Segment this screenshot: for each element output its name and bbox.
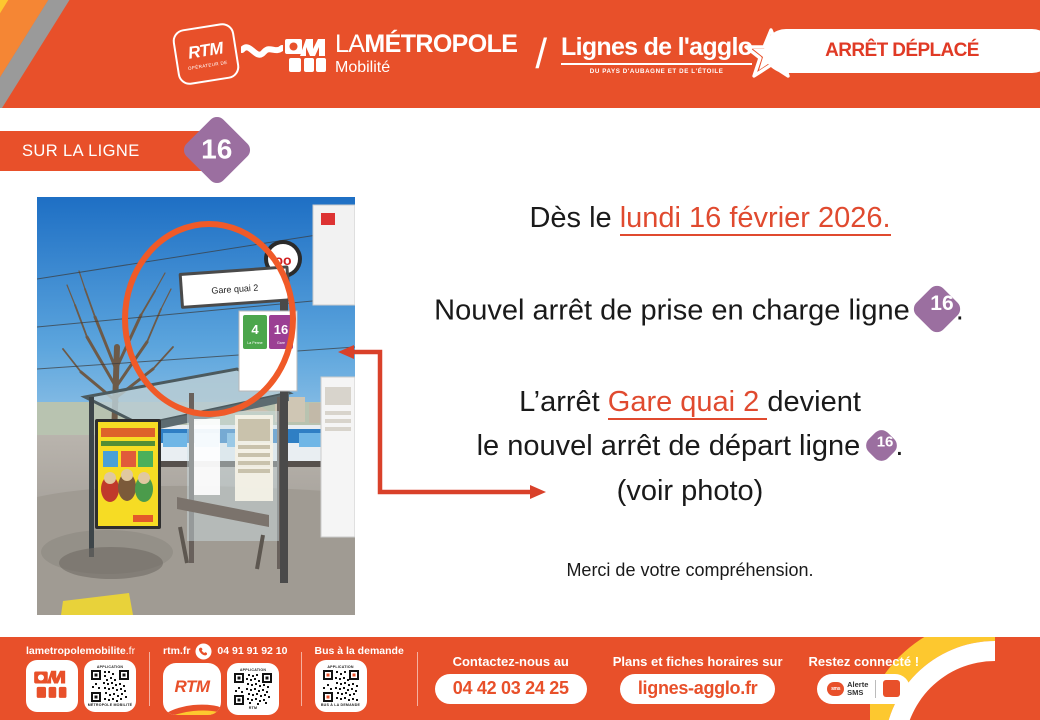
- footer-content: lametropolemobilite.fr: [0, 637, 932, 720]
- qr-rtm-bottom-label: RTM: [249, 706, 257, 710]
- qr-code-icon: [90, 669, 130, 703]
- alerte-sms-line2: SMS: [847, 689, 868, 697]
- phone-icon: [195, 643, 212, 660]
- inline-line-badge-pickup-label: 16: [923, 292, 961, 316]
- message-line-date: Dès le lundi 16 février 2026.: [380, 202, 1040, 235]
- qr-code-icon: [321, 669, 361, 703]
- svg-text:La Penne: La Penne: [247, 341, 262, 345]
- footer-contact-phone-pill[interactable]: 04 42 03 24 25: [435, 674, 587, 704]
- alerte-sms-label: Alerte SMS: [847, 681, 868, 697]
- facebook-label: f: [889, 678, 895, 699]
- agglo-name: Lignes de l'agglo: [561, 33, 752, 65]
- metropole-la: LA: [335, 30, 364, 58]
- lignes-agglo-logo: Lignes de l'agglo DU PAYS D'AUBAGNE ET D…: [561, 28, 798, 80]
- message-stop-highlight: Gare quai 2: [608, 386, 768, 420]
- footer-metropole-tld: .fr: [126, 645, 135, 657]
- footer-divider: [149, 652, 150, 706]
- message-pickup-prefix: Nouvel arrêt de prise en charge ligne: [434, 295, 918, 327]
- logo-separator-slash: /: [535, 33, 547, 75]
- alerte-sms-link[interactable]: sms Alerte SMS: [827, 681, 868, 697]
- message-see-photo: (voir photo): [380, 475, 1000, 508]
- footer-plans-site: lignes-agglo.fr: [638, 678, 758, 699]
- footer-plans-label: Plans et fiches horaires sur: [613, 654, 783, 669]
- footer-divider: [417, 652, 418, 706]
- status-badge: ARRÊT DÉPLACÉ: [764, 29, 1040, 73]
- line-banner-label: SUR LA LIGNE: [22, 142, 140, 161]
- footer-contact: Contactez-nous au 04 42 03 24 25: [422, 637, 600, 720]
- rtm-logo-word: RTM: [187, 38, 225, 63]
- footer-plans: Plans et fiches horaires sur lignes-aggl…: [600, 637, 796, 720]
- squiggle-connector-icon: [241, 34, 283, 74]
- footer-contact-label: Contactez-nous au: [453, 654, 569, 669]
- rtm-footer-logo[interactable]: RTM: [163, 663, 221, 715]
- footer-rtm-domain: rtm.fr: [163, 645, 190, 657]
- metropole-mobilite-wordmark: LAMÉTROPOLE Mobilité: [335, 32, 517, 76]
- qr-bus-bottom-label: BUS À LA DEMANDE: [321, 703, 360, 707]
- qr-metropole-bottom-label: MÉTROPOLE MOBILITÉ: [88, 703, 133, 707]
- poster-page: RTM OPÉRATEUR DE LAMÉTROPOLE: [0, 0, 1040, 720]
- sms-bubble-icon: sms: [827, 682, 844, 696]
- footer-metropole-domain: lametropolemobilite: [26, 645, 126, 657]
- message-date-prefix: Dès le: [529, 202, 619, 234]
- qr-code-rtm-app[interactable]: APPLICATION: [227, 663, 279, 715]
- status-badge-label: ARRÊT DÉPLACÉ: [825, 40, 993, 62]
- footer-metropole-caption: lametropolemobilite.fr: [26, 645, 136, 657]
- social-divider: [875, 680, 876, 698]
- footer-social-label: Restez connecté !: [809, 654, 920, 669]
- metropole-mobilite-mark-icon: [283, 31, 329, 77]
- qr-code-icon: [233, 672, 273, 706]
- inline-line-badge-pickup: 16: [910, 282, 964, 336]
- footer-group-metropole: lametropolemobilite.fr: [0, 637, 145, 720]
- footer-contact-phone: 04 42 03 24 25: [453, 678, 569, 699]
- inline-line-badge-departure-label: 16: [872, 433, 899, 450]
- message-line-stop: L’arrêt Gare quai 2 devient: [380, 386, 1000, 419]
- footer-bus-caption: Bus à la demande: [315, 645, 404, 657]
- rtm-logo: RTM OPÉRATEUR DE: [171, 21, 241, 86]
- message-line-pickup: Nouvel arrêt de prise en charge ligne 16…: [358, 293, 1040, 331]
- message-departure-prefix: le nouvel arrêt de départ ligne: [477, 430, 869, 462]
- footer-rtm-caption: rtm.fr 04 91 91 92 10: [163, 643, 288, 660]
- footer-social: Restez connecté ! sms Alerte SMS f: [796, 637, 933, 720]
- footer-bar: lametropolemobilite.fr: [0, 637, 1040, 720]
- message-stop-suffix: devient: [767, 386, 861, 418]
- footer-social-pill[interactable]: sms Alerte SMS f: [817, 674, 910, 704]
- header-logo-group: RTM OPÉRATEUR DE LAMÉTROPOLE: [175, 22, 798, 86]
- metropole-mobilite-sub: Mobilité: [335, 60, 517, 76]
- message-stop-prefix: L’arrêt: [519, 386, 608, 418]
- rtm-footer-logo-word: RTM: [174, 677, 209, 697]
- bus-stop-photo: oo Gare quai 2 4 La Penne 16 Gare: [37, 197, 355, 615]
- line-number-badge: 16: [180, 113, 254, 187]
- svg-text:Gare: Gare: [277, 341, 285, 345]
- agglo-tagline: DU PAYS D'AUBAGNE ET DE L'ÉTOILE: [561, 68, 752, 75]
- footer-group-rtm: rtm.fr 04 91 91 92 10 RTM APPLICATION: [154, 637, 297, 720]
- message-thanks: Merci de votre compréhension.: [380, 560, 1000, 581]
- sms-badge-label: sms: [831, 686, 840, 692]
- footer-group-bus-demande: Bus à la demande APPLICATION: [306, 637, 413, 720]
- footer-plans-site-pill[interactable]: lignes-agglo.fr: [620, 674, 776, 704]
- svg-text:4: 4: [251, 322, 259, 337]
- line-number-badge-label: 16: [201, 134, 232, 166]
- message-date-highlight: lundi 16 février 2026.: [620, 202, 891, 236]
- header-bar: RTM OPÉRATEUR DE LAMÉTROPOLE: [0, 0, 1040, 108]
- footer-divider: [301, 652, 302, 706]
- message-line-departure: le nouvel arrêt de départ ligne 16.: [380, 430, 1000, 463]
- qr-code-bus-demande-app[interactable]: APPLICATION: [315, 660, 367, 712]
- footer-rtm-phone: 04 91 91 92 10: [217, 645, 287, 657]
- facebook-icon[interactable]: f: [883, 680, 900, 697]
- svg-text:16: 16: [274, 322, 288, 337]
- qr-code-metropole-app[interactable]: APPLICATION: [84, 660, 136, 712]
- metropole-name: MÉTROPOLE: [364, 30, 517, 58]
- metropole-mobilite-footer-logo[interactable]: [26, 660, 78, 712]
